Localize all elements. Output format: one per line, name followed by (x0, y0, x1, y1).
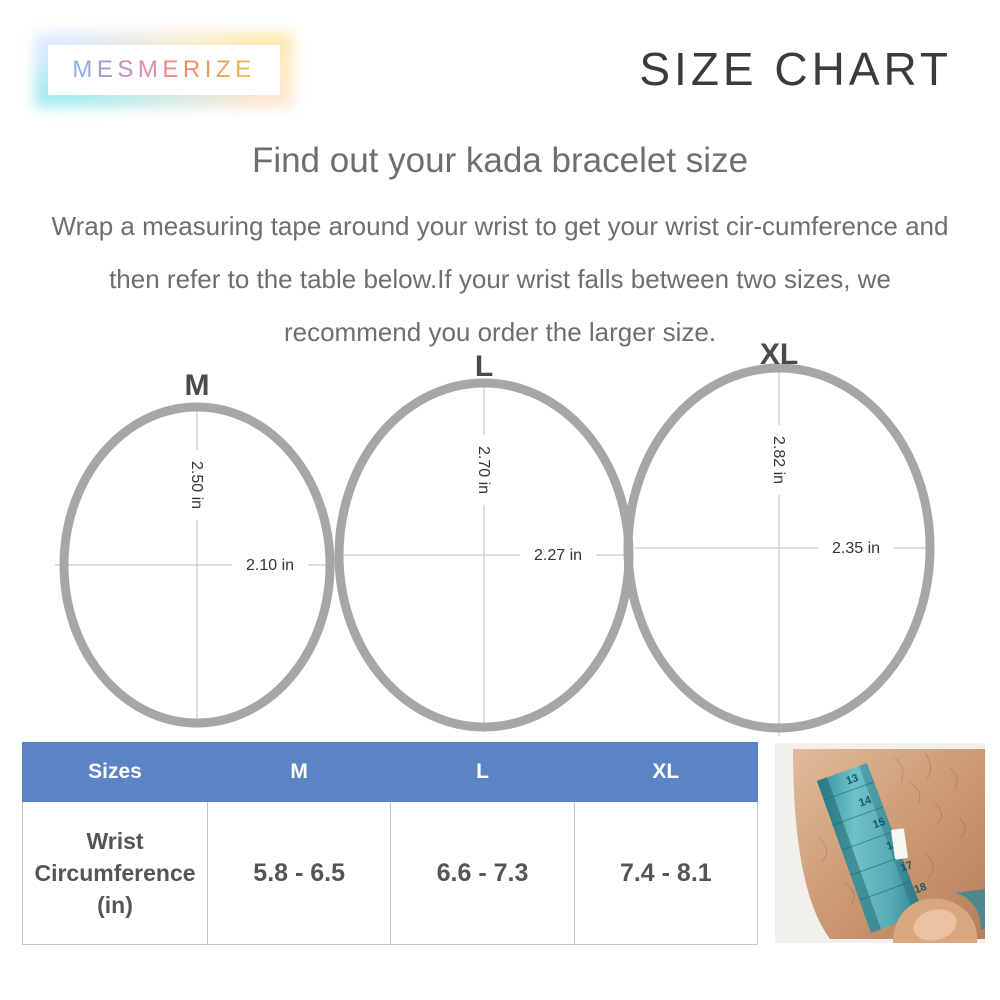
size-diagram-l: L 2.70 in 2.27 in (339, 350, 632, 732)
cell-m-range: 5.8 - 6.5 (208, 802, 391, 945)
table-header-xl: XL (574, 743, 757, 802)
page-title: SIZE CHART (639, 42, 952, 96)
xl-width-label: 2.35 in (832, 540, 880, 557)
bracelet-size-diagram: M 2.50 in 2.10 in L 2.70 in (0, 340, 1000, 740)
table-header-sizes: Sizes (23, 743, 208, 802)
intro-paragraph: Wrap a measuring tape around your wrist … (50, 200, 950, 359)
logo-wordmark: MESMERIZE (48, 45, 280, 95)
row-label-line-2: Circumference (27, 857, 203, 889)
cell-xl-range: 7.4 - 8.1 (574, 802, 757, 945)
wrist-measurement-photo: 13 14 15 16 17 18 (775, 743, 985, 943)
row-label-line-3: (in) (27, 889, 203, 921)
m-size-label: M (185, 369, 210, 402)
table-header-m: M (208, 743, 391, 802)
cell-l-range: 6.6 - 7.3 (391, 802, 574, 945)
xl-size-label: XL (760, 340, 798, 371)
xl-height-label: 2.82 in (770, 436, 787, 484)
m-width-label: 2.10 in (246, 557, 294, 574)
row-label-wrist-circumference: Wrist Circumference (in) (23, 802, 208, 945)
table-header-l: L (391, 743, 574, 802)
row-label-line-1: Wrist (27, 825, 203, 857)
size-diagram-xl: XL 2.82 in 2.35 in (628, 340, 934, 736)
table-row: Wrist Circumference (in) 5.8 - 6.5 6.6 -… (23, 802, 758, 945)
l-size-label: L (475, 350, 493, 383)
m-height-label: 2.50 in (188, 461, 205, 509)
size-diagram-m: M 2.50 in 2.10 in (55, 369, 340, 728)
l-width-label: 2.27 in (534, 547, 582, 564)
size-table: Sizes M L XL Wrist Circumference (in) 5.… (22, 742, 758, 945)
subtitle: Find out your kada bracelet size (0, 141, 1000, 181)
l-height-label: 2.70 in (475, 446, 492, 494)
table-header-row: Sizes M L XL (23, 743, 758, 802)
brand-logo: MESMERIZE (48, 45, 280, 95)
